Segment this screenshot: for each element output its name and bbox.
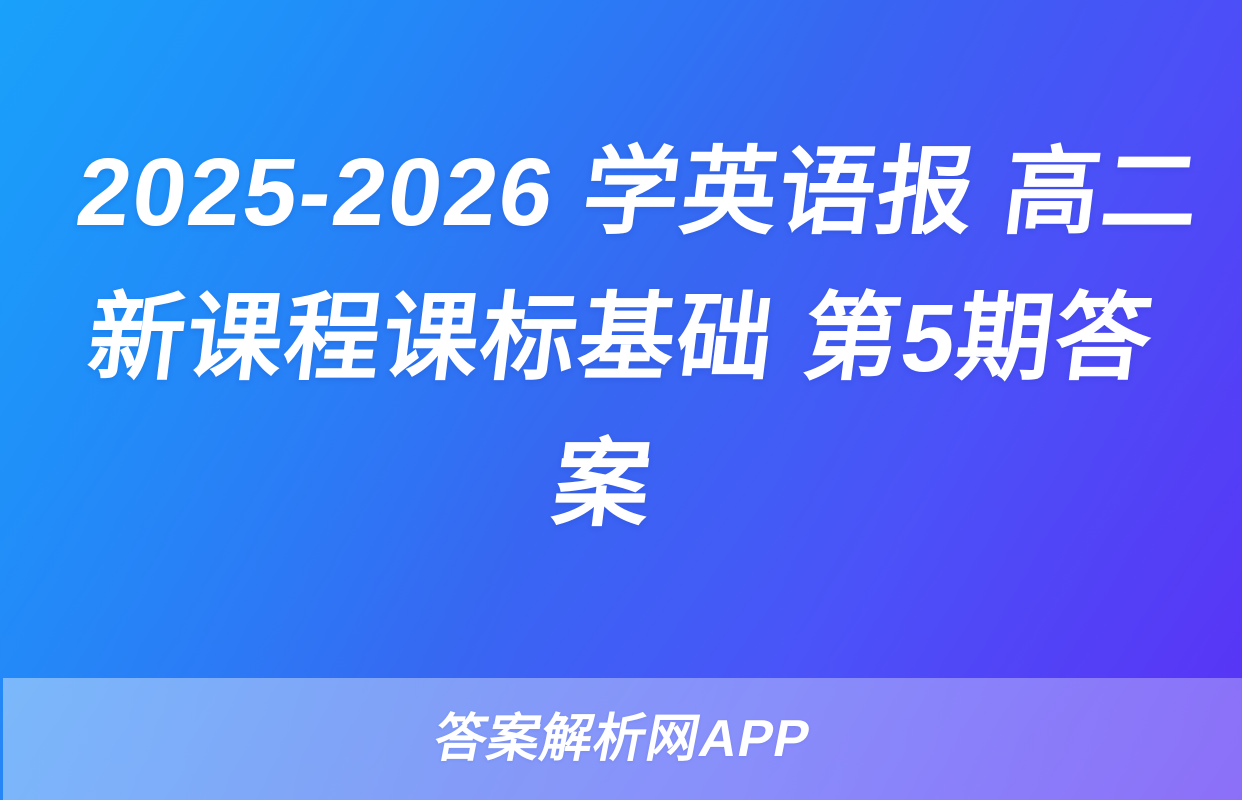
answer-title-card: 2025-2026 学英语报 高二 新课程课标基础 第5期答案 答案解析网APP	[0, 0, 1242, 800]
headline-container: 2025-2026 学英语报 高二 新课程课标基础 第5期答案	[0, 0, 1242, 678]
page-title: 2025-2026 学英语报 高二 新课程课标基础 第5期答案	[31, 120, 1211, 558]
footer-watermark-band: 答案解析网APP	[3, 678, 1242, 800]
watermark-text: 答案解析网APP	[430, 713, 815, 765]
